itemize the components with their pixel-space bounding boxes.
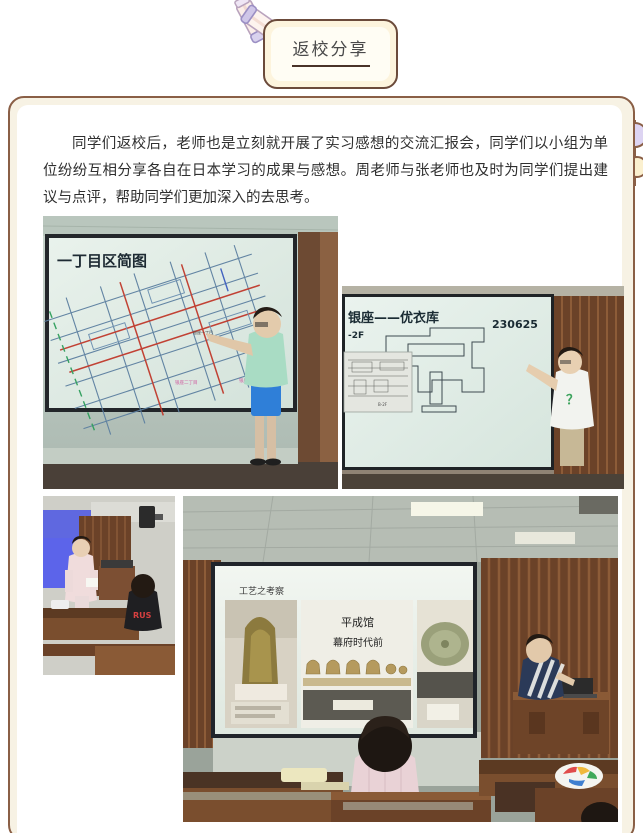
svg-text:230625: 230625	[492, 318, 538, 331]
photo-teacher-classroom[interactable]: RUS	[43, 496, 175, 675]
title-underline	[292, 65, 370, 67]
svg-text:银座——优衣库: 银座——优衣库	[348, 310, 439, 326]
article-body: 同学们返校后，老师也是立刻就开展了实习感想的交流汇报会，同学们以小组为单位纷纷互…	[43, 131, 608, 212]
svg-text:-2F: -2F	[348, 331, 364, 341]
svg-text:一丁目区简图: 一丁目区简图	[57, 252, 147, 270]
photo-presentation-hall[interactable]: 工艺之考察 考察报告 平成馆 幕府时代前	[183, 496, 618, 822]
photo-student-pointing-map[interactable]: 一丁目区简图	[43, 216, 338, 489]
title-badge: 返校分享	[263, 19, 398, 89]
article-page: 返校分享 同学们返校后，老师也是立刻就开展了实习感想的交流汇报会，同学们以小组为…	[0, 0, 643, 833]
svg-text:平成馆: 平成馆	[341, 615, 374, 629]
content-card-inner: 同学们返校后，老师也是立刻就开展了实习感想的交流汇报会，同学们以小组为单位纷纷互…	[17, 105, 622, 833]
svg-text:银座二丁目: 银座二丁目	[175, 379, 198, 386]
photo-student-pointing-floorplan[interactable]: 银座——优衣库 -2F 230625	[342, 286, 624, 489]
svg-text:B-2F: B-2F	[378, 402, 388, 407]
svg-text:？: ？	[566, 393, 579, 408]
page-title: 返校分享	[293, 41, 369, 58]
svg-text:工艺之考察: 工艺之考察	[239, 585, 284, 597]
svg-text:幕府时代前: 幕府时代前	[333, 636, 383, 649]
svg-text:RUS: RUS	[133, 611, 152, 620]
content-card: 同学们返校后，老师也是立刻就开展了实习感想的交流汇报会，同学们以小组为单位纷纷互…	[8, 96, 635, 833]
article-header: 返校分享	[0, 0, 643, 96]
